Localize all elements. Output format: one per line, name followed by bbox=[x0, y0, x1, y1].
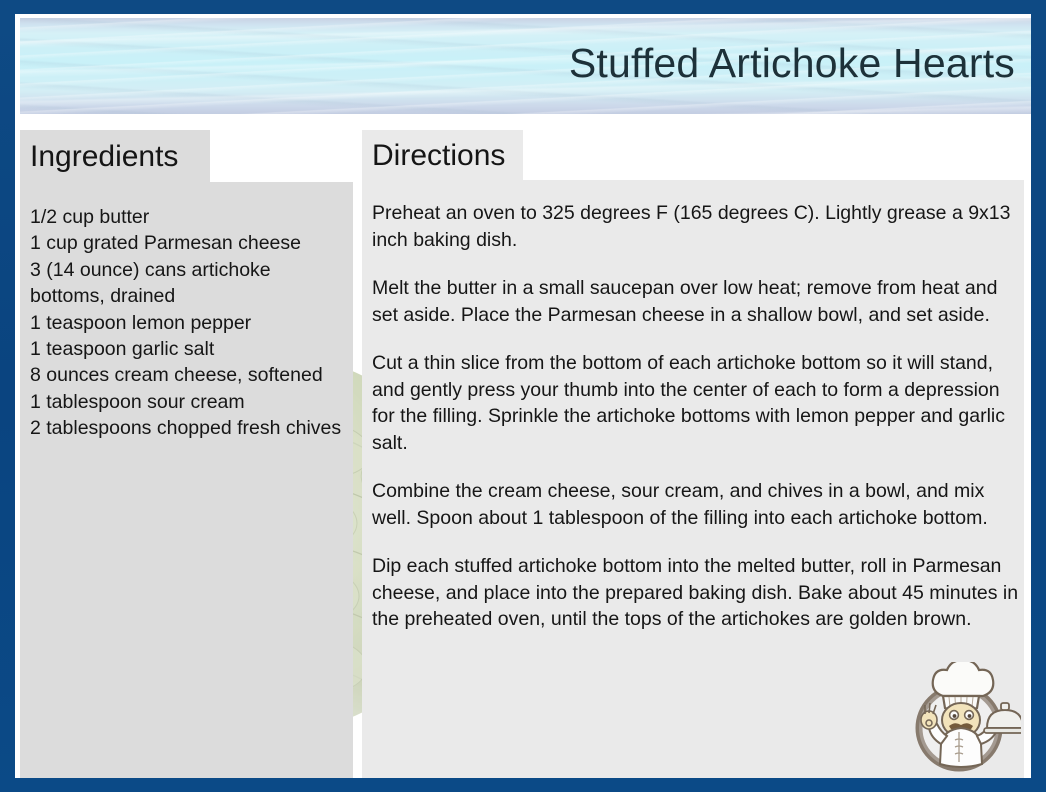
direction-step: Cut a thin slice from the bottom of each… bbox=[372, 350, 1022, 456]
ingredient-item: 2 tablespoons chopped fresh chives bbox=[30, 415, 348, 441]
ingredient-item: 1 tablespoon sour cream bbox=[30, 389, 348, 415]
direction-step: Combine the cream cheese, sour cream, an… bbox=[372, 478, 1022, 531]
direction-step: Preheat an oven to 325 degrees F (165 de… bbox=[372, 200, 1022, 253]
chef-logo-icon bbox=[903, 662, 1021, 774]
direction-step: Melt the butter in a small saucepan over… bbox=[372, 275, 1022, 328]
recipe-card: Stuffed Artichoke Hearts bbox=[0, 0, 1046, 792]
ingredients-heading: Ingredients bbox=[30, 142, 178, 172]
ingredient-item: 3 (14 ounce) cans artichoke bottoms, dra… bbox=[30, 257, 348, 310]
chef-mascot-logo bbox=[903, 662, 1021, 774]
ingredient-item: 1/2 cup butter bbox=[30, 204, 348, 230]
direction-step: Dip each stuffed artichoke bottom into t… bbox=[372, 553, 1022, 633]
page-title: Stuffed Artichoke Hearts bbox=[569, 40, 1015, 87]
card-inner-surface: Stuffed Artichoke Hearts bbox=[15, 14, 1031, 778]
ingredient-item: 1 teaspoon garlic salt bbox=[30, 336, 348, 362]
ingredient-item: 1 cup grated Parmesan cheese bbox=[30, 230, 348, 256]
directions-steps: Preheat an oven to 325 degrees F (165 de… bbox=[372, 200, 1022, 633]
ingredients-section: Ingredients 1/2 cup butter1 cup grated P… bbox=[20, 130, 353, 778]
ingredient-item: 1 teaspoon lemon pepper bbox=[30, 310, 348, 336]
directions-heading: Directions bbox=[372, 141, 505, 171]
ingredients-list: 1/2 cup butter1 cup grated Parmesan chee… bbox=[30, 204, 348, 442]
ingredient-item: 8 ounces cream cheese, softened bbox=[30, 362, 348, 388]
